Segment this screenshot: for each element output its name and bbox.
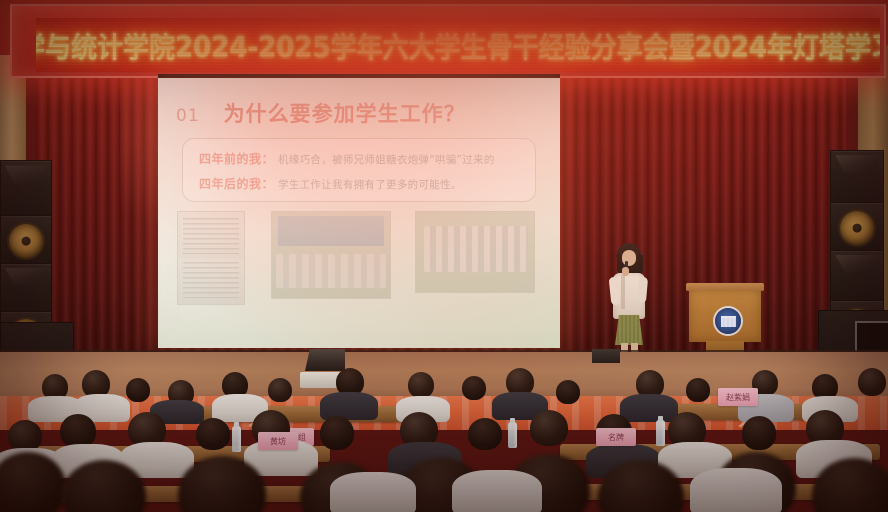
seat-placard: 黄坊 <box>258 432 298 450</box>
audience-head <box>408 372 434 398</box>
horn-driver <box>5 268 47 284</box>
slide-bullet-row: 四年后的我： 学生工作让我有拥有了更多的可能性。 <box>199 175 462 192</box>
woofer-cone <box>840 211 874 245</box>
wooden-podium <box>686 283 764 355</box>
photo-people-row <box>276 254 386 288</box>
audience-head <box>268 378 292 402</box>
banner-title-text: 数学与统计学院2024-2025学年六大学生骨干经验分享会暨2024年灯塔学习会 <box>36 25 880 65</box>
speaker-cabinet-woofer <box>830 202 884 252</box>
audience-shoulders <box>320 392 378 420</box>
slide-section-number: 01 <box>176 106 200 126</box>
speaker-cabinet-woofer <box>0 215 52 265</box>
audience-head <box>556 380 580 404</box>
speaker-cabinet-horn <box>0 263 52 313</box>
slide-photo-documents <box>178 212 244 304</box>
slide-photo-group-field <box>416 212 534 292</box>
audience-area: 赵紫娟 鉴定组 黄坊 名牌 <box>0 366 888 512</box>
audience-head <box>320 416 354 450</box>
slide-photo-group-event <box>272 212 390 298</box>
horn-driver <box>835 155 879 173</box>
speaker-cabinet-horn <box>830 150 884 204</box>
led-banner: 数学与统计学院2024-2025学年六大学生骨干经验分享会暨2024年灯塔学习会 <box>10 4 886 78</box>
auditorium-photo: 数学与统计学院2024-2025学年六大学生骨干经验分享会暨2024年灯塔学习会… <box>0 0 888 512</box>
speaker-jacket-lapel <box>621 275 625 309</box>
presentation-slide: 01 为什么要参加学生工作？ 四年前的我： 机缘巧合，被师兄师姐糖衣炮弹“哄骗”… <box>158 78 560 348</box>
speaker-arm-right <box>637 277 648 304</box>
audience-head <box>530 410 568 446</box>
audience-shoulders <box>452 470 542 512</box>
slide-photo-strip <box>172 212 546 312</box>
student-speaker <box>606 243 652 363</box>
audience-head <box>858 368 886 396</box>
water-bottle <box>508 422 517 448</box>
audience-head <box>126 378 150 402</box>
water-bottle <box>232 426 241 452</box>
audience-shoulders <box>330 472 416 512</box>
podium-body <box>689 290 761 342</box>
led-banner-screen: 数学与统计学院2024-2025学年六大学生骨干经验分享会暨2024年灯塔学习会 <box>36 18 880 72</box>
horn-driver <box>835 255 879 272</box>
speaker-hand <box>622 267 629 276</box>
slide-bullet-value: 机缘巧合，被师兄师姐糖衣炮弹“哄骗”过来的 <box>278 152 495 167</box>
audience-head <box>196 418 230 450</box>
audience-shoulders <box>690 468 782 512</box>
photo-banner-sign <box>278 216 384 246</box>
slide-bullet-label: 四年前的我： <box>199 150 274 167</box>
slide-title: 为什么要参加学生工作？ <box>224 98 466 128</box>
slide-bullet-value: 学生工作让我有拥有了更多的可能性。 <box>278 177 462 192</box>
horn-driver <box>5 165 47 184</box>
slide-content-box: 四年前的我： 机缘巧合，被师兄师姐糖衣炮弹“哄骗”过来的 四年后的我： 学生工作… <box>182 138 536 202</box>
university-crest-icon <box>715 308 741 334</box>
audience-head <box>60 414 96 448</box>
water-bottle <box>656 420 665 446</box>
seat-placard: 名牌 <box>596 428 636 446</box>
slide-header: 01 为什么要参加学生工作？ <box>176 98 466 128</box>
photo-people-row <box>424 226 528 272</box>
audience-head <box>742 416 776 450</box>
woofer-cone <box>9 224 43 258</box>
rear-stage-speaker <box>592 349 620 363</box>
seat-placard: 赵紫娟 <box>718 388 758 406</box>
audience-shoulders <box>620 394 678 422</box>
slide-bullet-label: 四年后的我： <box>199 175 274 192</box>
crest-building-glyph <box>721 316 736 327</box>
projection-screen: 01 为什么要参加学生工作？ 四年前的我： 机缘巧合，被师兄师姐糖衣炮弹“哄骗”… <box>158 78 560 348</box>
audience-head <box>462 376 486 400</box>
audience-head <box>468 418 502 450</box>
speaker-skirt <box>615 315 643 345</box>
speaker-cabinet-horn <box>0 160 52 217</box>
audience-head <box>686 378 710 402</box>
speaker-cabinet-horn <box>830 250 884 302</box>
slide-bullet-row: 四年前的我： 机缘巧合，被师兄师姐糖衣炮弹“哄骗”过来的 <box>199 150 495 167</box>
